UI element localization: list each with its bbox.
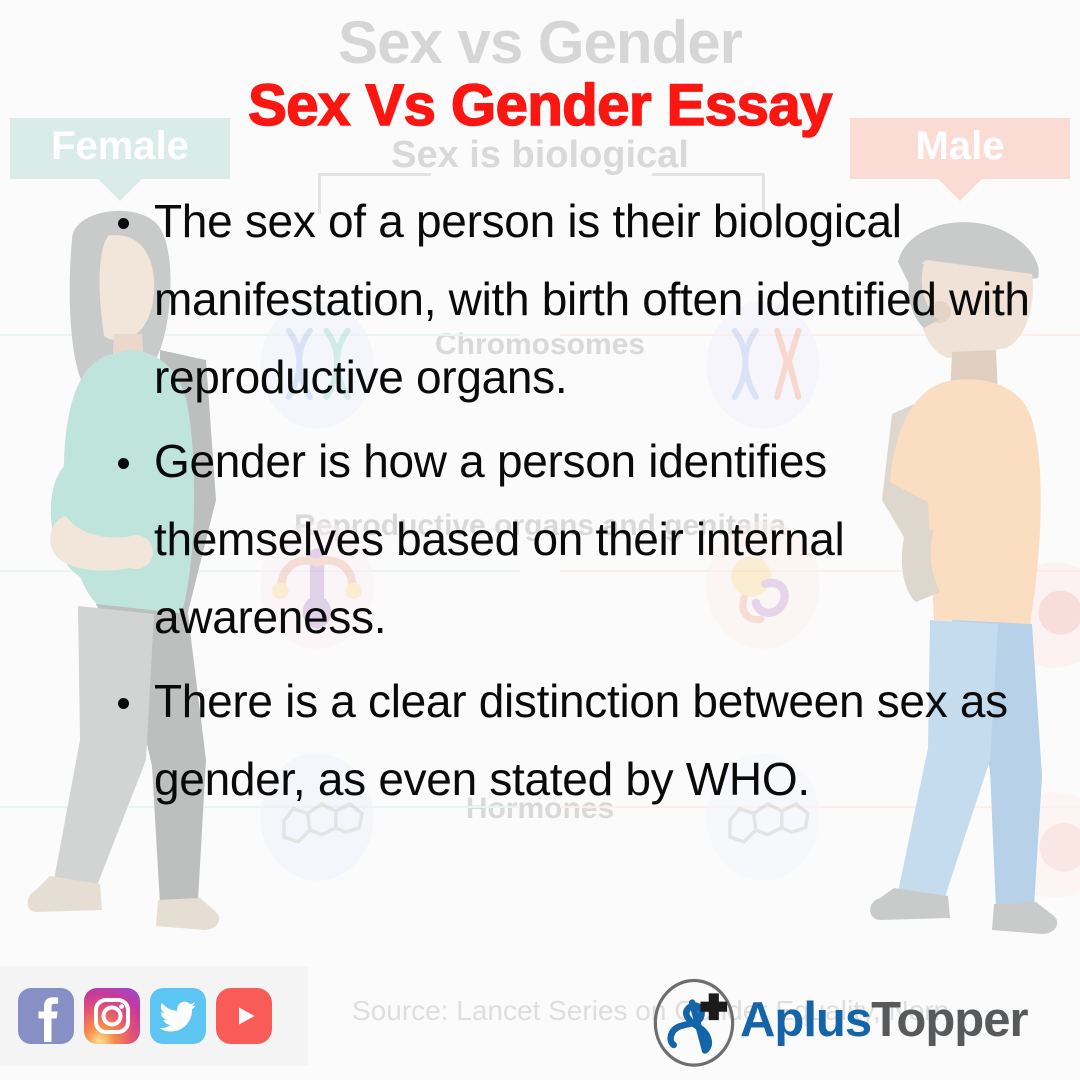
instagram-glyph	[84, 988, 140, 1044]
list-item: There is a clear distinction between sex…	[108, 662, 1038, 818]
youtube-glyph	[216, 988, 272, 1044]
foreground-content: Sex Vs Gender Essay The sex of a person …	[0, 0, 1080, 1080]
list-item-text: There is a clear distinction between sex…	[154, 675, 1008, 805]
bullet-dot-icon	[118, 698, 129, 709]
twitter-icon[interactable]	[150, 988, 206, 1044]
infographic-card: Sex vs Gender Female Male Sex is biologi…	[0, 0, 1080, 1080]
instagram-icon[interactable]	[84, 988, 140, 1044]
list-item-text: Gender is how a person identifies themse…	[154, 435, 844, 643]
bullet-dot-icon	[118, 458, 129, 469]
list-item: Gender is how a person identifies themse…	[108, 422, 1038, 656]
logo-word-aplus: Aplus	[740, 993, 871, 1047]
page-title: Sex Vs Gender Essay	[0, 72, 1080, 139]
aplustopper-logo-wordmark: AplusTopper	[740, 992, 1028, 1048]
youtube-icon[interactable]	[216, 988, 272, 1044]
aplustopper-logo-mark	[648, 975, 740, 1067]
logo-word-topper: Topper	[871, 993, 1027, 1047]
facebook-glyph	[18, 988, 74, 1044]
bullet-dot-icon	[118, 218, 129, 229]
list-item-text: The sex of a person is their biological …	[154, 195, 1030, 403]
bullet-list: The sex of a person is their biological …	[108, 182, 1038, 824]
twitter-glyph	[150, 988, 206, 1044]
social-bar	[0, 966, 308, 1066]
facebook-icon[interactable]	[18, 988, 74, 1044]
list-item: The sex of a person is their biological …	[108, 182, 1038, 416]
